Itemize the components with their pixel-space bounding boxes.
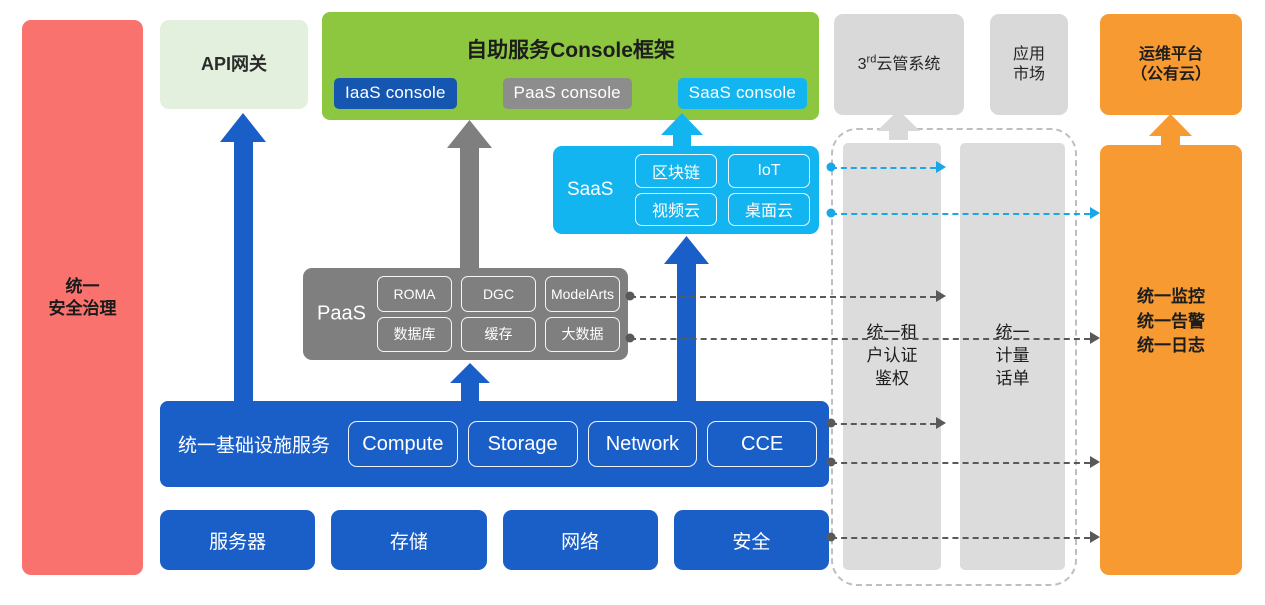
paas-service-bigdata[interactable]: 大数据	[545, 317, 620, 353]
hardware-network[interactable]: 网络	[503, 510, 658, 570]
hardware-storage[interactable]: 存储	[331, 510, 486, 570]
infrastructure-service-row: Compute Storage Network CCE	[348, 421, 817, 467]
infra-service-compute[interactable]: Compute	[348, 421, 458, 467]
dashed-infra-to-ops-panel	[831, 462, 1090, 464]
dash-arrowhead-infra-auth	[936, 417, 946, 429]
saas-layer-box: SaaS 区块链 IoT 视频云 桌面云	[553, 146, 819, 234]
arrow-infra-to-paas	[450, 363, 490, 406]
third-party-cloud-mgmt-box: 3rd云管系统	[834, 14, 964, 115]
dash-arrowhead-paas-ops	[1090, 332, 1100, 344]
paas-service-cache[interactable]: 缓存	[461, 317, 536, 353]
dash-arrowhead-saas-auth	[936, 161, 946, 173]
console-chip-row: IaaS console PaaS console SaaS console	[334, 78, 807, 109]
security-governance-panel: 统一 安全治理	[22, 20, 143, 575]
paas-service-modelarts[interactable]: ModelArts	[545, 276, 620, 312]
dashed-paas-to-tenant-auth	[630, 296, 936, 298]
ops-platform-line2: （公有云）	[1131, 65, 1211, 85]
dash-arrowhead-paas-auth	[936, 290, 946, 302]
dashed-infra-to-tenant-auth	[831, 423, 936, 425]
dashed-saas-to-tenant-auth	[831, 167, 936, 169]
tenant-auth-line1: 统一租	[867, 322, 918, 345]
saas-service-desktop-cloud[interactable]: 桌面云	[728, 193, 810, 227]
iaas-console-chip[interactable]: IaaS console	[334, 78, 457, 109]
metering-line3: 话单	[996, 368, 1030, 391]
dashed-saas-to-ops-panel	[831, 213, 1090, 215]
app-market-box: 应用 市场	[990, 14, 1068, 115]
third-party-cloud-mgmt-label: 3rd云管系统	[858, 55, 941, 75]
saas-service-iot[interactable]: IoT	[728, 154, 810, 188]
dash-arrowhead-saas-ops	[1090, 207, 1100, 219]
hardware-row: 服务器 存储 网络 安全	[160, 510, 829, 570]
app-market-line2: 市场	[1013, 65, 1045, 85]
saas-service-blockchain[interactable]: 区块链	[635, 154, 717, 188]
arrow-infra-to-api-gateway	[220, 113, 266, 405]
dash-arrowhead-hardware-ops	[1090, 531, 1100, 543]
arrow-paas-to-console	[447, 120, 492, 271]
api-gateway-box: API网关	[160, 20, 308, 109]
hardware-server[interactable]: 服务器	[160, 510, 315, 570]
saas-service-video-cloud[interactable]: 视频云	[635, 193, 717, 227]
console-framework-box: 自助服务Console框架 IaaS console PaaS console …	[322, 12, 819, 120]
infrastructure-layer-box: 统一基础设施服务 Compute Storage Network CCE	[160, 401, 829, 487]
tenant-auth-line3: 鉴权	[867, 368, 918, 391]
paas-service-roma[interactable]: ROMA	[377, 276, 452, 312]
security-governance-line2: 安全治理	[49, 298, 117, 319]
dashed-hardware-to-ops-panel	[831, 537, 1090, 539]
ops-monitoring-line3: 统一日志	[1100, 334, 1242, 359]
paas-layer-box: PaaS ROMA DGC ModelArts 数据库 缓存 大数据	[303, 268, 628, 360]
shared-service-metering-billing: 统一 计量 话单	[960, 143, 1065, 570]
ops-monitoring-line1: 统一监控	[1100, 285, 1242, 310]
arrow-ops-panel-to-ops-top	[1149, 114, 1192, 147]
dash-arrowhead-infra-ops	[1090, 456, 1100, 468]
ops-monitoring-line2: 统一告警	[1100, 310, 1242, 335]
security-governance-line1: 统一	[49, 276, 117, 297]
metering-line1: 统一	[996, 322, 1030, 345]
metering-line2: 计量	[996, 345, 1030, 368]
paas-service-dgc[interactable]: DGC	[461, 276, 536, 312]
hardware-security[interactable]: 安全	[674, 510, 829, 570]
saas-service-grid: 区块链 IoT 视频云 桌面云	[635, 154, 810, 226]
architecture-diagram: 统一 安全治理 API网关 自助服务Console框架 IaaS console…	[0, 0, 1265, 605]
paas-service-database[interactable]: 数据库	[377, 317, 452, 353]
arrow-infra-to-saas	[664, 236, 709, 406]
infra-service-cce[interactable]: CCE	[707, 421, 817, 467]
shared-service-tenant-auth: 统一租 户认证 鉴权	[843, 143, 941, 570]
saas-console-chip[interactable]: SaaS console	[678, 78, 807, 109]
api-gateway-label: API网关	[201, 53, 267, 76]
ops-monitoring-panel: 统一监控 统一告警 统一日志	[1100, 145, 1242, 575]
infrastructure-layer-label: 统一基础设施服务	[178, 431, 330, 458]
paas-console-chip[interactable]: PaaS console	[503, 78, 632, 109]
paas-service-grid: ROMA DGC ModelArts 数据库 缓存 大数据	[377, 276, 620, 352]
app-market-line1: 应用	[1013, 45, 1045, 65]
ops-platform-top-box: 运维平台 （公有云）	[1100, 14, 1242, 115]
dashed-paas-to-ops-panel	[630, 338, 1090, 340]
paas-layer-label: PaaS	[317, 303, 366, 326]
tenant-auth-line2: 户认证	[867, 345, 918, 368]
saas-layer-label: SaaS	[567, 179, 613, 201]
console-framework-title: 自助服务Console框架	[322, 34, 819, 64]
infra-service-network[interactable]: Network	[588, 421, 698, 467]
ops-platform-line1: 运维平台	[1131, 45, 1211, 65]
infra-service-storage[interactable]: Storage	[468, 421, 578, 467]
